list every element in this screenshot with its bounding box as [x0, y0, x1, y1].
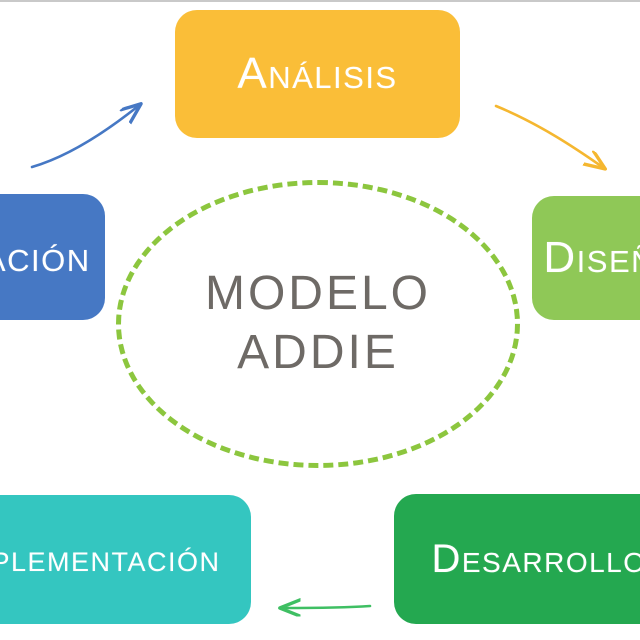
node-diseno[interactable]: Diseño	[532, 196, 640, 320]
addie-model-diagram: MODELO ADDIE Análisis Diseño Desarrollo …	[0, 0, 640, 640]
node-evaluacion[interactable]: Evaluación	[0, 194, 105, 320]
center-dashed-ellipse	[116, 180, 520, 468]
node-analisis-label: Análisis	[237, 49, 397, 99]
top-divider-rule	[0, 0, 640, 2]
node-implementacion[interactable]: Implementación	[0, 495, 251, 624]
node-desarrollo-label: Desarrollo	[431, 537, 640, 582]
arrow-analisis-to-diseno	[496, 106, 601, 166]
arrow-desarrollo-to-implementacion	[285, 606, 370, 608]
node-analisis[interactable]: Análisis	[175, 10, 460, 138]
node-desarrollo[interactable]: Desarrollo	[394, 494, 640, 624]
node-evaluacion-label: Evaluación	[0, 232, 91, 282]
node-diseno-label: Diseño	[543, 233, 640, 283]
node-implementacion-label: Implementación	[0, 538, 221, 581]
arrow-evaluacion-to-analisis	[32, 107, 137, 167]
